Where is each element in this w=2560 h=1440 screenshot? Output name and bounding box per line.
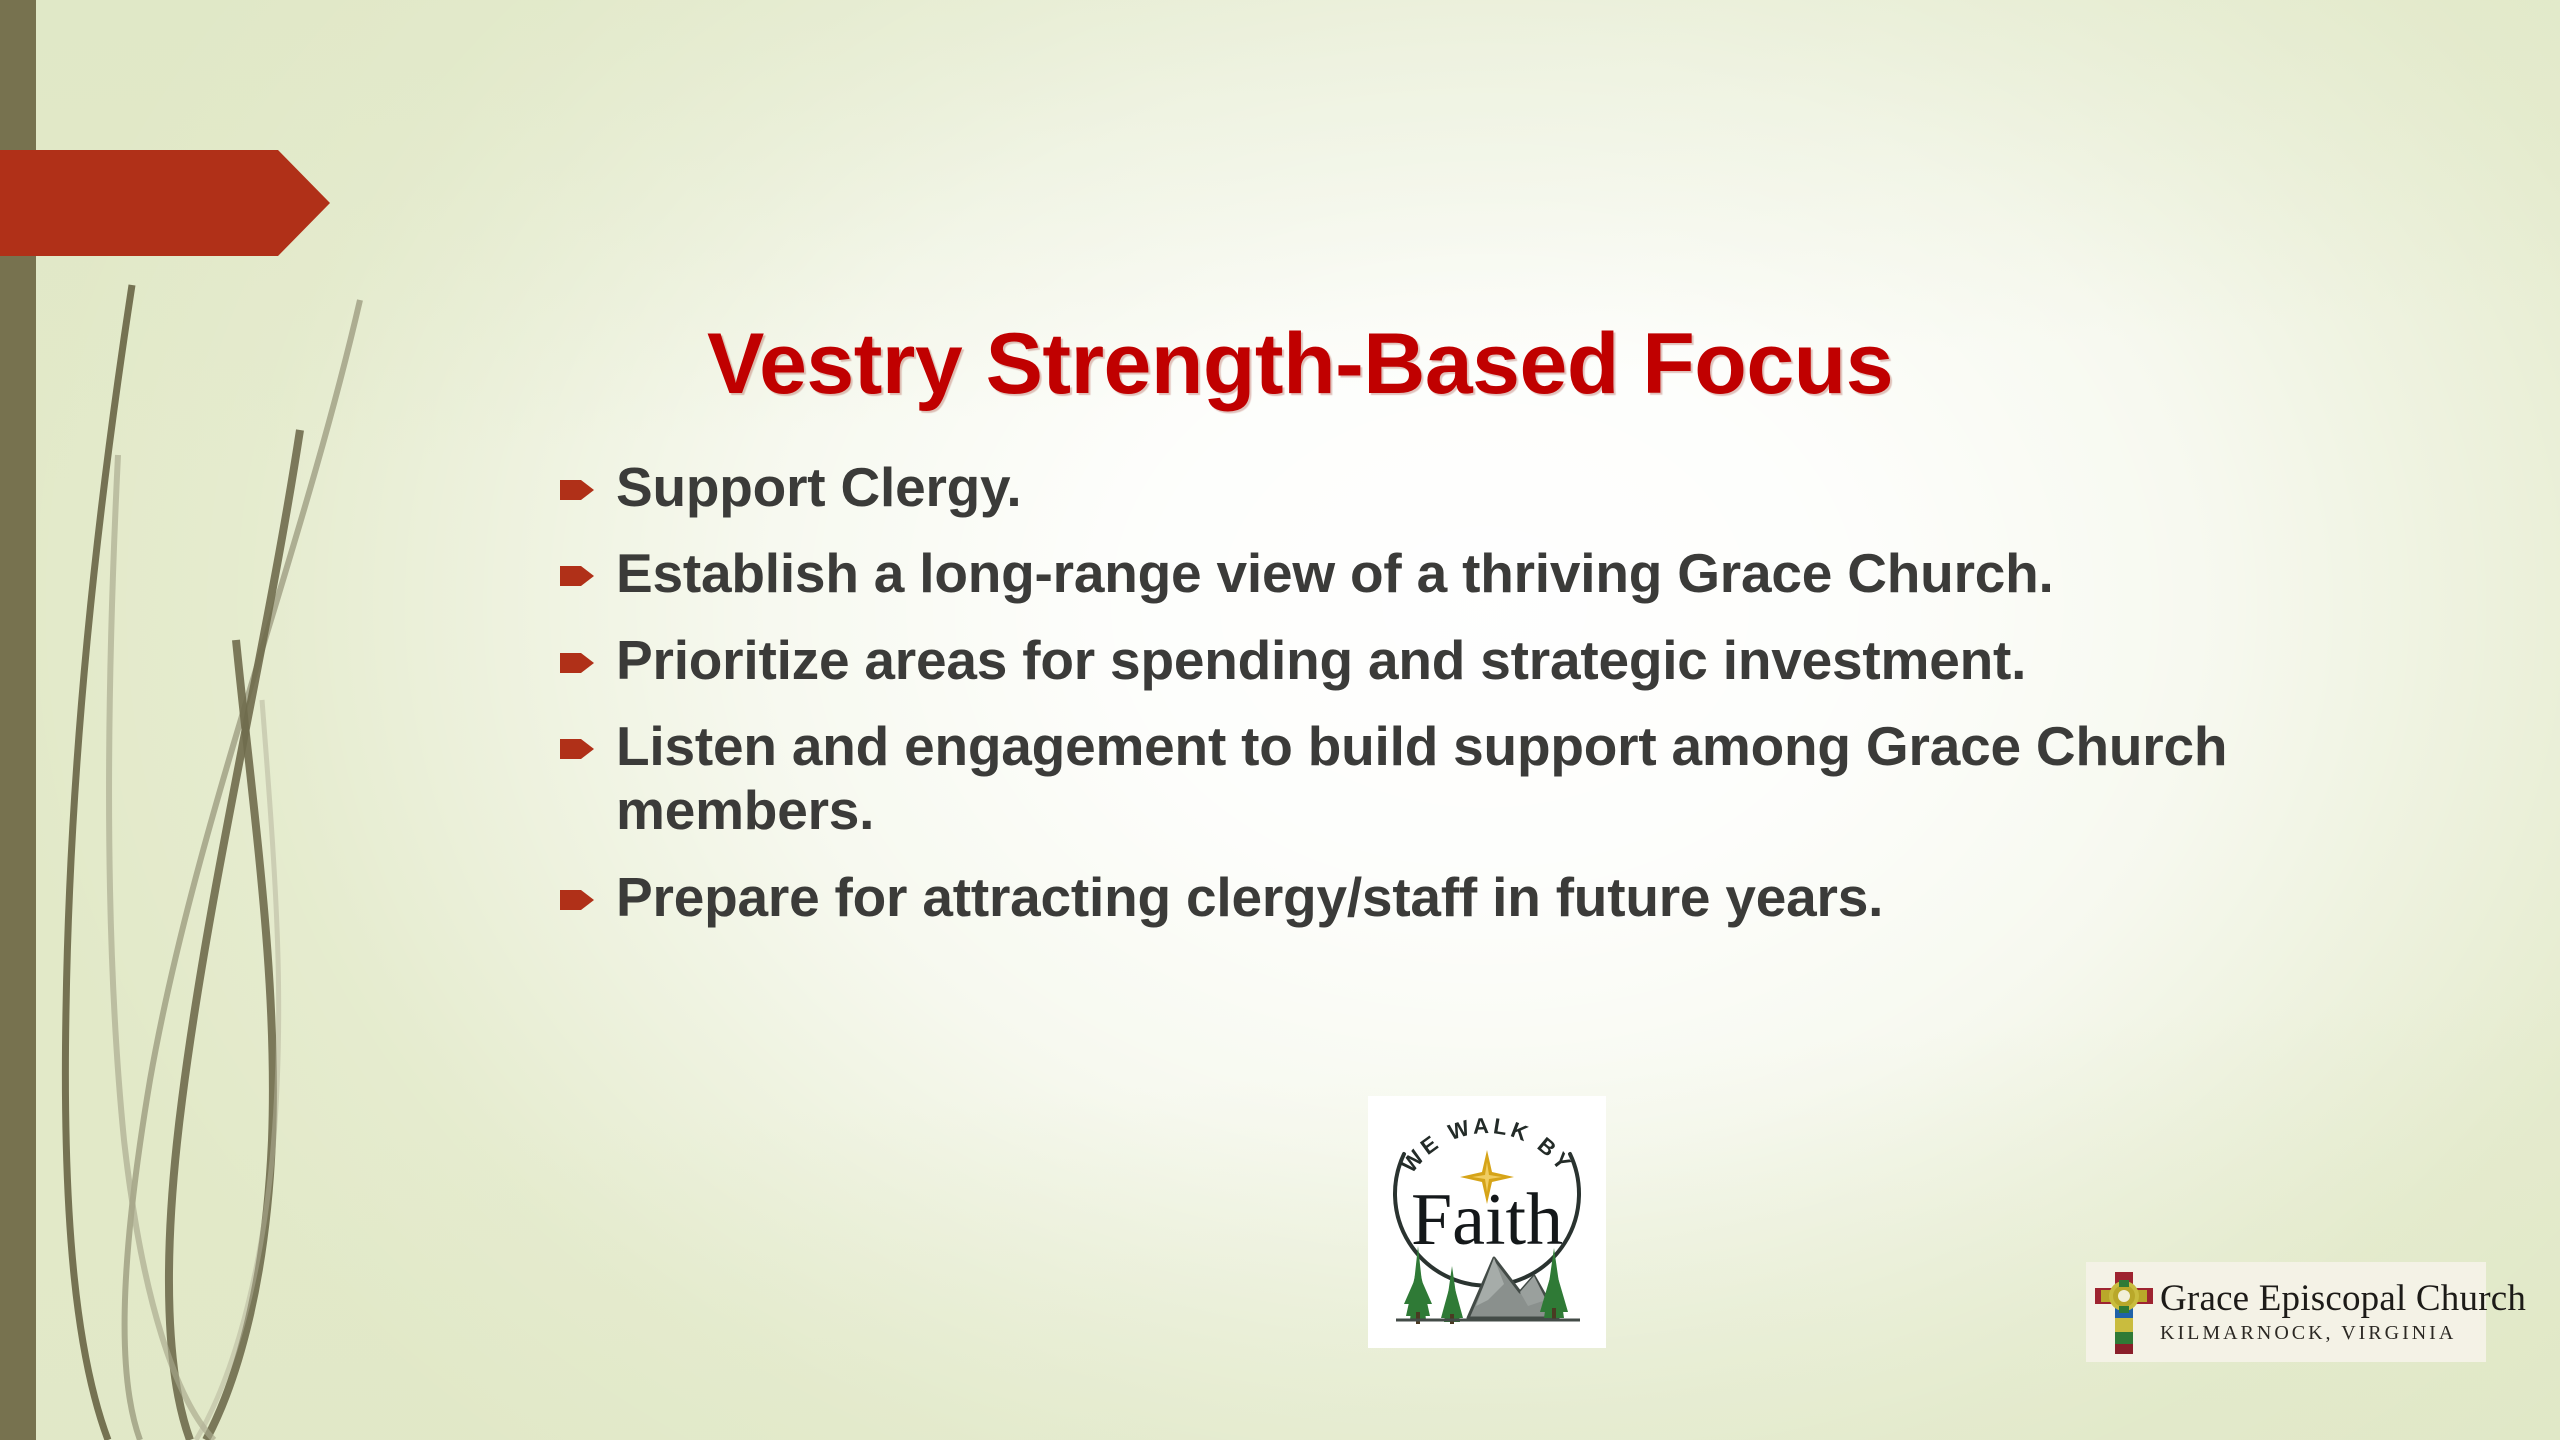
list-item-text: Listen and engagement to build support a… [616,714,2390,843]
list-item: Support Clergy. [560,455,2390,519]
arrow-bullet-icon [560,736,594,762]
list-item: Prepare for attracting clergy/staff in f… [560,865,2390,929]
list-item: Establish a long-range view of a thrivin… [560,541,2390,605]
grace-logo-text: Grace Episcopal Church KILMARNOCK, VIRGI… [2160,1280,2534,1345]
list-item-text: Establish a long-range view of a thrivin… [616,541,2390,605]
we-walk-by-faith-logo: WE WALK BY Faith [1368,1096,1606,1348]
arrow-bullet-icon [560,650,594,676]
bullet-list: Support Clergy. Establish a long-range v… [560,455,2390,951]
list-item-text: Prepare for attracting clergy/staff in f… [616,865,2390,929]
faith-logo-wordmark: Faith [1411,1179,1563,1261]
red-arrow-banner-icon [0,150,330,256]
grace-logo-name: Grace Episcopal Church [2160,1280,2526,1317]
list-item-text: Prioritize areas for spending and strate… [616,628,2390,692]
list-item: Prioritize areas for spending and strate… [560,628,2390,692]
presentation-slide: Vestry Strength-Based Focus Support Cler… [0,0,2560,1440]
grace-episcopal-church-logo: Grace Episcopal Church KILMARNOCK, VIRGI… [2086,1262,2486,1362]
arrow-bullet-icon [560,477,594,503]
grace-logo-city: KILMARNOCK, VIRGINIA [2160,1322,2526,1345]
list-item-text: Support Clergy. [616,455,2390,519]
list-item: Listen and engagement to build support a… [560,714,2390,843]
faith-logo-icon: WE WALK BY Faith [1368,1096,1606,1348]
arrow-bullet-icon [560,887,594,913]
arrow-bullet-icon [560,563,594,589]
slide-title: Vestry Strength-Based Focus [400,320,2200,409]
mosaic-cross-icon [2094,1270,2154,1354]
